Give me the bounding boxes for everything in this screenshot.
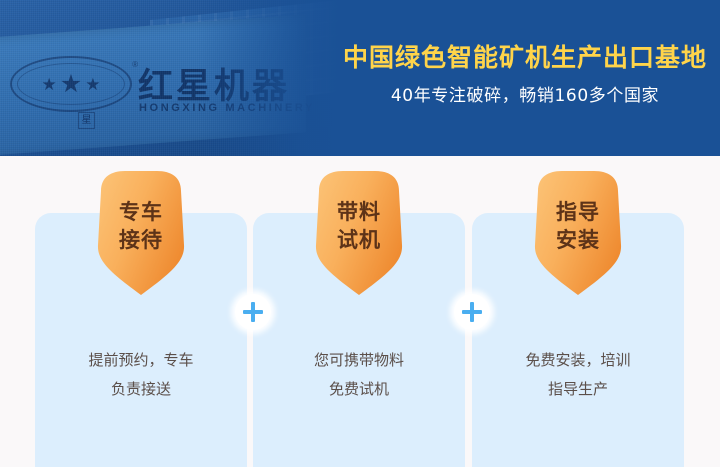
service-card-row: 专车 接待 提前预约，专车 负责接送 bbox=[0, 156, 720, 467]
banner-title: 中国绿色智能矿机生产出口基地 bbox=[330, 44, 720, 72]
badge-line-2: 安装 bbox=[522, 227, 634, 255]
card-description: 您可携带物料 免费试机 bbox=[253, 346, 465, 405]
factory-sign-photo: ★ ★ ★ ® 星 红星机器 HONGXING MACHINERY bbox=[0, 0, 340, 156]
desc-line-1: 您可携带物料 bbox=[253, 346, 465, 375]
desc-line-1: 提前预约，专车 bbox=[35, 346, 247, 375]
photo-fade-overlay bbox=[0, 0, 340, 156]
plus-separator-icon bbox=[235, 294, 271, 330]
card-description: 免费安装，培训 指导生产 bbox=[472, 346, 684, 405]
badge-line-2: 接待 bbox=[85, 227, 197, 255]
shield-badge-label: 指导 安装 bbox=[522, 199, 634, 254]
shield-badge-label: 带料 试机 bbox=[303, 199, 415, 254]
badge-line-2: 试机 bbox=[303, 227, 415, 255]
badge-line-1: 带料 bbox=[303, 199, 415, 227]
banner-subtitle: 40年专注破碎，畅销160多个国家 bbox=[330, 86, 720, 106]
badge-line-1: 指导 bbox=[522, 199, 634, 227]
header-banner: ★ ★ ★ ® 星 红星机器 HONGXING MACHINERY 中国绿色智能… bbox=[0, 0, 720, 156]
shield-badge-icon: 专车 接待 bbox=[85, 169, 197, 299]
shield-badge-icon: 指导 安装 bbox=[522, 169, 634, 299]
shield-badge-icon: 带料 试机 bbox=[303, 169, 415, 299]
shield-badge-label: 专车 接待 bbox=[85, 199, 197, 254]
plus-separator-icon bbox=[454, 294, 490, 330]
desc-line-2: 负责接送 bbox=[35, 375, 247, 404]
card-description: 提前预约，专车 负责接送 bbox=[35, 346, 247, 405]
desc-line-1: 免费安装，培训 bbox=[472, 346, 684, 375]
service-card[interactable]: 指导 安装 免费安装，培训 指导生产 bbox=[472, 213, 684, 467]
banner-text-block: 中国绿色智能矿机生产出口基地 40年专注破碎，畅销160多个国家 bbox=[330, 44, 720, 106]
promo-page: ★ ★ ★ ® 星 红星机器 HONGXING MACHINERY 中国绿色智能… bbox=[0, 0, 720, 467]
service-card[interactable]: 带料 试机 您可携带物料 免费试机 bbox=[253, 213, 465, 467]
desc-line-2: 免费试机 bbox=[253, 375, 465, 404]
badge-line-1: 专车 bbox=[85, 199, 197, 227]
service-card[interactable]: 专车 接待 提前预约，专车 负责接送 bbox=[35, 213, 247, 467]
desc-line-2: 指导生产 bbox=[472, 375, 684, 404]
